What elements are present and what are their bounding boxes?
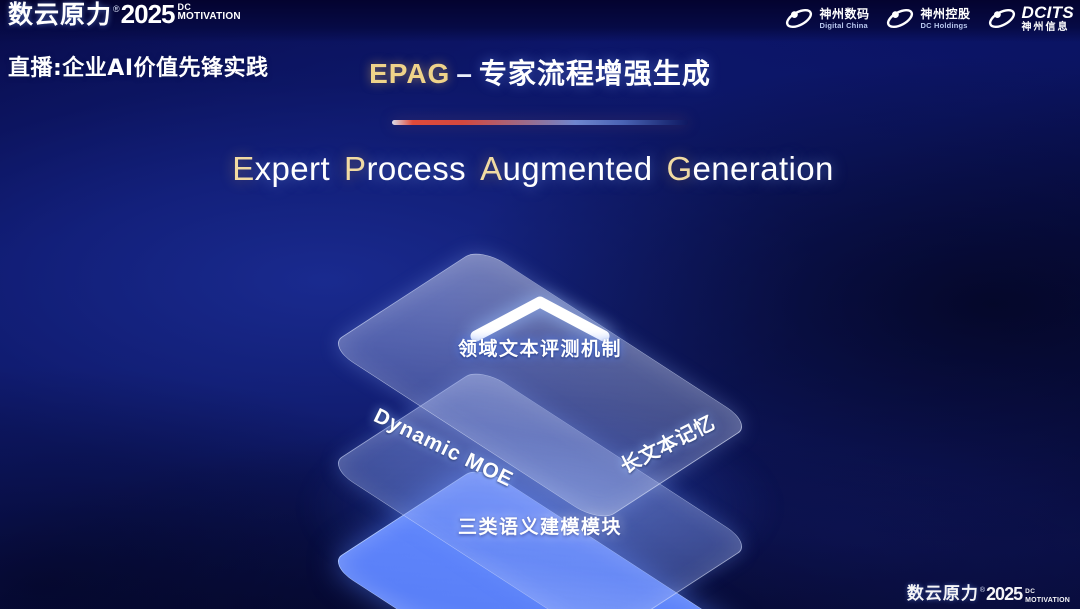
registered-mark: ® <box>113 3 120 15</box>
title-separator: – <box>456 58 473 89</box>
footer-brand-name-cn: 数云原力 <box>907 585 979 604</box>
subtitle-word-generation: Generation <box>666 150 833 188</box>
partner-logo-digital-china: 神州数码 Digital China <box>784 6 869 31</box>
brand-year: 2025 <box>121 1 175 28</box>
diagram-label-top: 领域文本评测机制 <box>458 334 622 361</box>
brand-name-cn: 数云原力 <box>8 1 112 29</box>
presentation-slide: 数云原力 ® 2025 DC MOTIVATION 直播:企业AI价值先锋实践 … <box>0 0 1080 609</box>
partner-name-en: DCITS <box>1022 4 1075 21</box>
partner-name-cn: 神州信息 <box>1022 23 1075 33</box>
footer-brand-dc-text: DC <box>1025 587 1070 596</box>
title-divider-rule <box>392 120 688 125</box>
subtitle-initial: P <box>344 150 366 187</box>
live-session-label: 直播:企业AI价值先锋实践 <box>8 50 269 82</box>
swoosh-icon <box>885 6 915 31</box>
partner-logo-dc-holdings: 神州控股 DC Holdings <box>885 6 970 31</box>
footer-brand-motivation-text: MOTIVATION <box>1025 596 1070 605</box>
subtitle-word-augmented: Augmented <box>480 150 652 188</box>
brand-logo: 数云原力 ® 2025 DC MOTIVATION <box>8 1 241 29</box>
subtitle-remainder: rocess <box>366 150 466 187</box>
subtitle-initial: G <box>666 150 692 187</box>
footer-brand-year: 2025 <box>986 585 1022 604</box>
slide-subtitle: ExpertProcessAugmentedGeneration <box>0 150 1080 188</box>
swoosh-icon <box>987 6 1017 31</box>
partner-name-cn: 神州控股 <box>920 8 970 20</box>
footer-brand-watermark: 数云原力 ® 2025 DC MOTIVATION <box>907 585 1070 605</box>
subtitle-remainder: eneration <box>693 150 834 187</box>
brand-dc-motivation: DC MOTIVATION <box>178 3 241 21</box>
subtitle-remainder: ugmented <box>502 150 652 187</box>
partner-name-en: DC Holdings <box>920 22 970 30</box>
title-chinese: 专家流程增强生成 <box>479 57 711 90</box>
partner-name-en: Digital China <box>819 22 869 30</box>
subtitle-word-expert: Expert <box>232 150 330 188</box>
partner-logo-dcits: DCITS 神州信息 <box>987 4 1075 33</box>
partner-name-cn: 神州数码 <box>819 8 869 20</box>
swoosh-icon <box>784 6 814 31</box>
partner-logo-group: 神州数码 Digital China 神州控股 DC Holdings <box>784 4 1074 33</box>
footer-registered-mark: ® <box>980 587 985 595</box>
diagram-label-bottom: 三类语义建模模块 <box>458 512 622 539</box>
brand-motivation-text: MOTIVATION <box>178 12 241 21</box>
subtitle-initial: A <box>480 150 502 187</box>
subtitle-remainder: xpert <box>255 150 330 187</box>
subtitle-initial: E <box>232 150 254 187</box>
subtitle-word-process: Process <box>344 150 466 188</box>
footer-brand-dc-motivation: DC MOTIVATION <box>1025 587 1070 605</box>
title-acronym: EPAG <box>369 58 450 89</box>
